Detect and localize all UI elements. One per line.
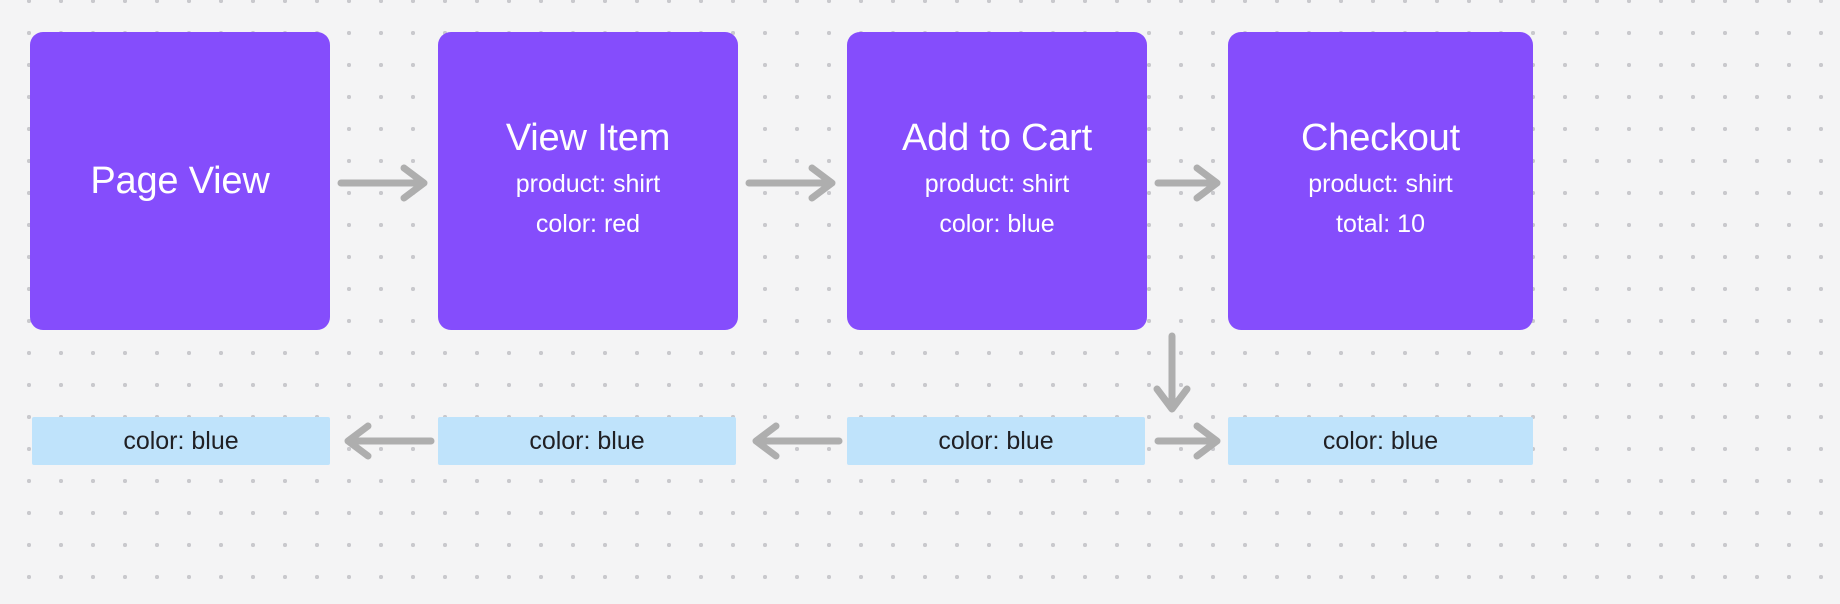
arrow-property-3-to-property-2 [744,418,842,464]
event-node-page-view[interactable]: Page View [30,32,330,330]
diagram-canvas: Page View View Item product: shirt color… [0,0,1840,604]
event-node-title: Checkout [1301,117,1460,160]
event-node-attributes: product: shirt color: red [516,164,661,245]
event-attribute: color: blue [939,204,1054,245]
property-node-3[interactable]: color: blue [847,417,1145,465]
property-node-label: color: blue [529,427,644,456]
arrow-view-item-to-add-to-cart [746,160,840,206]
event-attribute: total: 10 [1336,204,1425,245]
property-node-label: color: blue [938,427,1053,456]
property-node-4[interactable]: color: blue [1228,417,1533,465]
property-node-label: color: blue [1323,427,1438,456]
event-node-title: Add to Cart [902,117,1092,160]
event-node-title: View Item [506,117,670,160]
event-attribute: product: shirt [925,164,1070,205]
event-attribute: product: shirt [1308,164,1453,205]
event-node-title: Page View [90,160,269,203]
event-node-add-to-cart[interactable]: Add to Cart product: shirt color: blue [847,32,1147,330]
arrow-page-view-to-view-item [338,160,432,206]
arrow-add-to-cart-to-property-3 [1149,333,1195,417]
event-node-view-item[interactable]: View Item product: shirt color: red [438,32,738,330]
event-node-attributes: product: shirt color: blue [925,164,1070,245]
property-node-2[interactable]: color: blue [438,417,736,465]
event-node-checkout[interactable]: Checkout product: shirt total: 10 [1228,32,1533,330]
property-node-1[interactable]: color: blue [32,417,330,465]
event-attribute: product: shirt [516,164,661,205]
event-node-attributes: product: shirt total: 10 [1308,164,1453,245]
event-attribute: color: red [536,204,640,245]
arrow-add-to-cart-to-checkout [1155,160,1225,206]
arrow-property-3-to-property-4 [1155,418,1225,464]
property-node-label: color: blue [123,427,238,456]
arrow-property-2-to-property-1 [336,418,434,464]
